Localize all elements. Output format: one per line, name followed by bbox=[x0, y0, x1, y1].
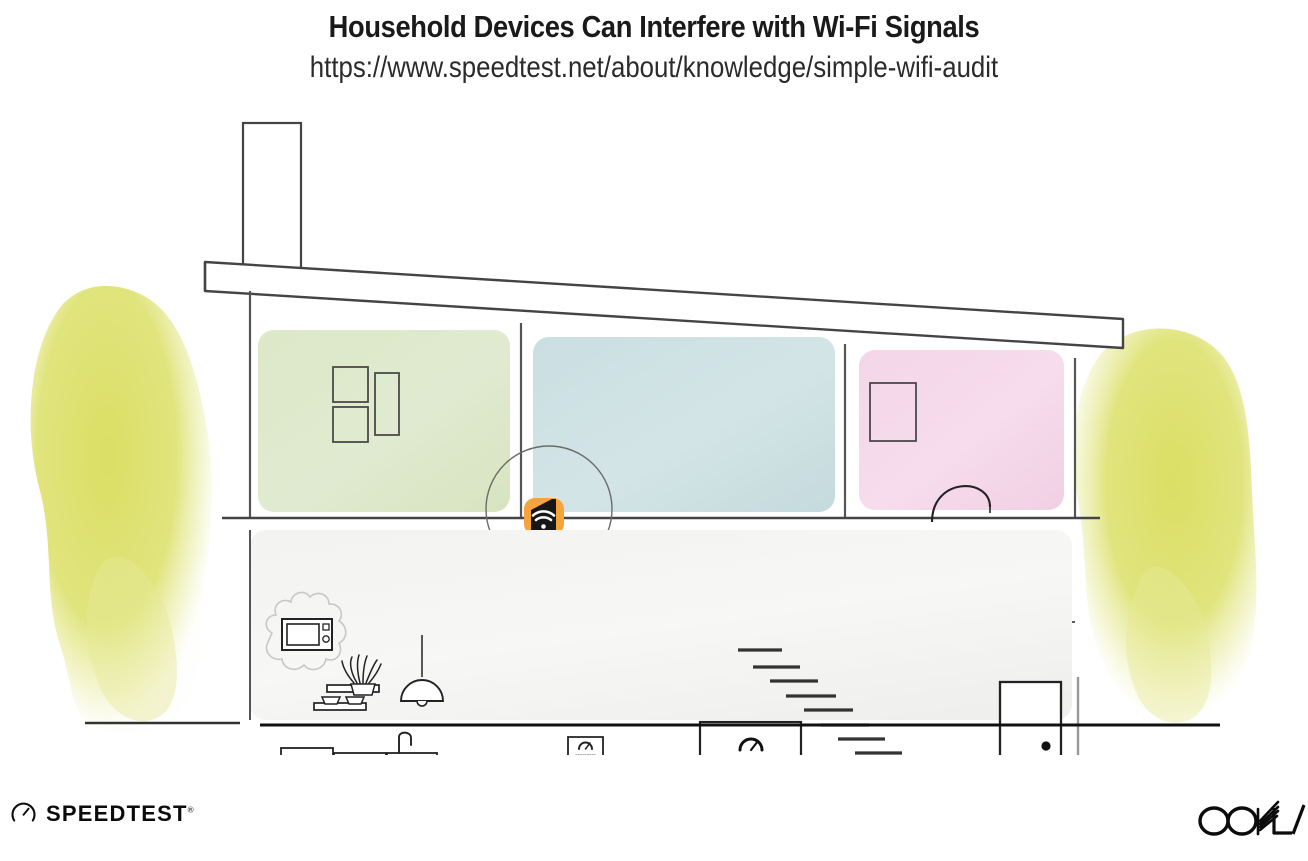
page-title: Household Devices Can Interfere with Wi-… bbox=[78, 0, 1229, 44]
footer: SPEEDTEST® bbox=[0, 782, 1308, 861]
source-url: https://www.speedtest.net/about/knowledg… bbox=[92, 44, 1217, 84]
laptop: SPEEDTEST bbox=[561, 737, 610, 755]
ookla-logo bbox=[1198, 798, 1308, 849]
foliage-left bbox=[31, 286, 212, 733]
door-knob bbox=[1041, 741, 1050, 750]
header: Household Devices Can Interfere with Wi-… bbox=[0, 0, 1308, 84]
trademark-symbol: ® bbox=[188, 805, 195, 814]
foliage-right bbox=[1073, 329, 1256, 723]
front-door bbox=[1000, 682, 1061, 755]
sink-faucet bbox=[399, 733, 411, 753]
television: SPEEDTEST bbox=[700, 722, 801, 755]
wifi-router-icon bbox=[524, 498, 564, 535]
house-illustration: SPEEDTEST bbox=[0, 105, 1308, 755]
page-root: Household Devices Can Interfere with Wi-… bbox=[0, 0, 1308, 861]
kitchen-counter bbox=[281, 733, 437, 755]
chimney bbox=[243, 123, 301, 281]
speedtest-wordmark: SPEEDTEST® bbox=[46, 801, 195, 827]
laptop-screen-label: SPEEDTEST bbox=[575, 754, 596, 755]
speedtest-gauge-icon bbox=[10, 800, 37, 827]
room-living-kitchen: SPEEDTEST bbox=[250, 530, 1078, 755]
speedtest-logo: SPEEDTEST® bbox=[10, 800, 195, 827]
ookla-wordmark-icon bbox=[1198, 798, 1308, 844]
